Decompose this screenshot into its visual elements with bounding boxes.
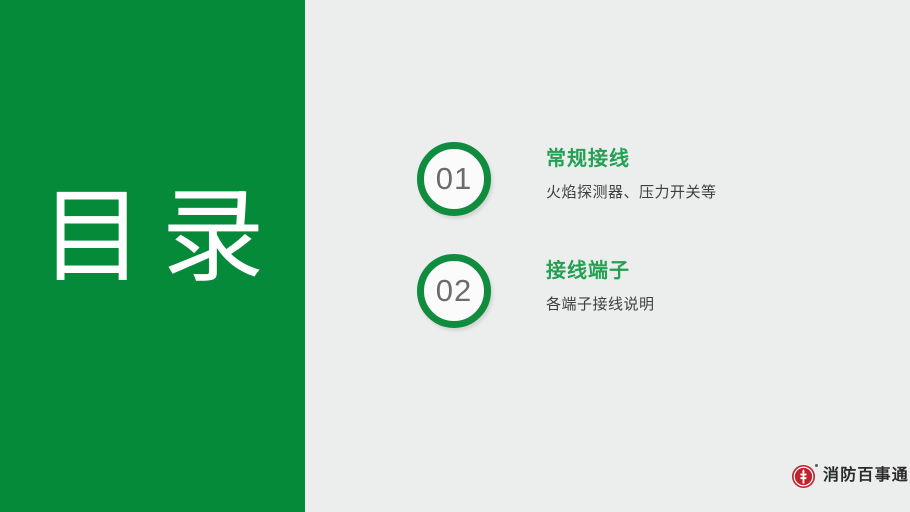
toc-subtitle: 各端子接线说明 <box>546 295 886 315</box>
toc-number-badge: 01 <box>417 142 491 216</box>
toc-subtitle: 火焰探测器、压力开关等 <box>546 183 886 203</box>
toc-item-01[interactable]: 01 常规接线 火焰探测器、压力开关等 <box>417 142 887 238</box>
toc-text-block: 接线端子 各端子接线说明 <box>546 258 886 315</box>
toc-number-label: 01 <box>417 142 491 216</box>
toc-heading[interactable]: 常规接线 <box>546 146 886 172</box>
page-title: 目录 <box>0 182 305 292</box>
slide-canvas: 目录 01 常规接线 火焰探测器、压力开关等 02 接线端子 各端子接线说明 <box>0 0 910 512</box>
toc-number-badge: 02 <box>417 254 491 328</box>
toc-number-label: 02 <box>417 254 491 328</box>
toc-text-block: 常规接线 火焰探测器、压力开关等 <box>546 146 886 203</box>
logo-wordmark: 消防百事通 <box>823 467 909 485</box>
brand-logo: 消防百事通 <box>791 461 909 491</box>
toc-item-02[interactable]: 02 接线端子 各端子接线说明 <box>417 254 887 350</box>
logo-registered-dot-icon <box>815 464 818 467</box>
toc-heading[interactable]: 接线端子 <box>546 258 886 284</box>
title-panel: 目录 <box>0 0 305 512</box>
toc-panel: 01 常规接线 火焰探测器、压力开关等 02 接线端子 各端子接线说明 <box>305 0 910 512</box>
flame-badge-icon <box>791 464 816 489</box>
